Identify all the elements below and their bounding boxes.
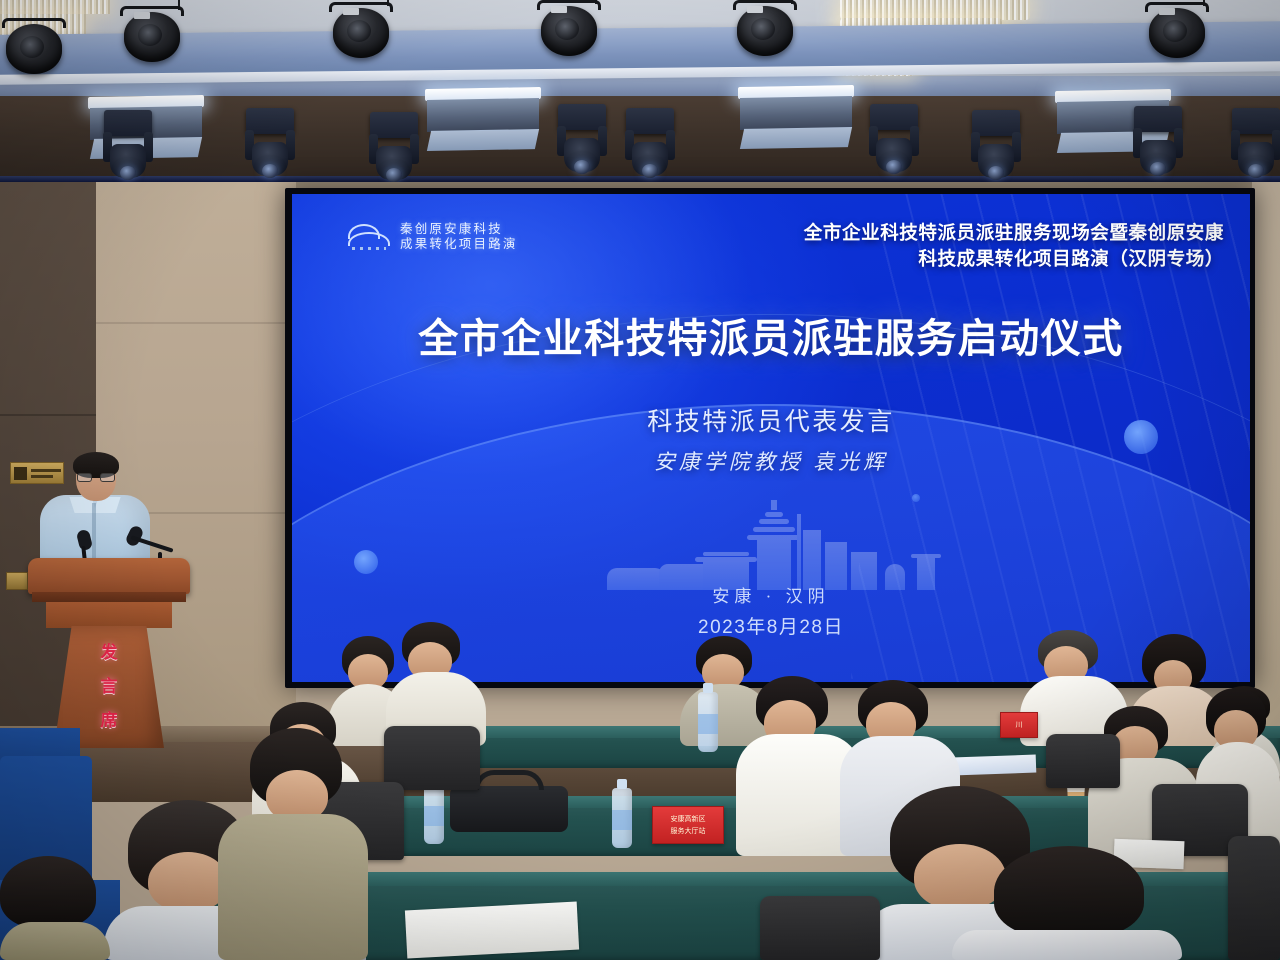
open-document	[952, 755, 1037, 776]
podium-label-char: 发	[28, 636, 190, 670]
screen-main-title: 全市企业科技特派员派驻服务启动仪式	[292, 306, 1250, 364]
wall-plate-sign-lower	[6, 572, 28, 590]
screen-logo-line1: 秦创原安康科技	[400, 222, 518, 237]
screen-header: 全市企业科技特派员派驻服务现场会暨秦创原安康 科技成果转化项目路演（汉阴专场）	[724, 220, 1224, 272]
moving-head-light-icon	[100, 110, 156, 184]
moving-head-light-icon	[366, 112, 422, 186]
par-can-icon	[0, 18, 68, 80]
moving-head-light-icon	[242, 108, 298, 182]
name-card-line2: 服务大厅站	[653, 827, 723, 836]
water-bottle	[424, 784, 444, 844]
moving-head-light-icon	[866, 104, 922, 178]
glasses-icon	[77, 473, 115, 482]
par-can-icon	[118, 6, 186, 68]
par-can-icon	[1143, 2, 1211, 64]
led-panel-light-icon	[738, 85, 854, 157]
name-card-text: 川	[1001, 721, 1037, 730]
led-panel-light-icon	[425, 87, 541, 159]
audience-person-front	[0, 856, 110, 960]
screen-logo-line2: 成果转化项目路演	[400, 237, 518, 252]
screen-speaker-name: 安康学院教授 袁光辉	[292, 446, 1250, 476]
screen-logo: 秦创原安康科技 成果转化项目路演	[348, 222, 518, 252]
screen-logo-text: 秦创原安康科技 成果转化项目路演	[400, 222, 518, 252]
moving-head-light-icon	[554, 104, 610, 178]
name-card: 安康高新区 服务大厅站	[652, 806, 724, 844]
screen-place: 安康 · 汉阴	[292, 582, 1250, 607]
name-card-line1: 安康高新区	[653, 815, 723, 824]
screen-header-line2: 科技成果转化项目路演（汉阴专场）	[724, 246, 1224, 272]
water-bottle	[698, 692, 718, 752]
audience-person-front	[218, 728, 368, 960]
screen-header-line1: 全市企业科技特派员派驻服务现场会暨秦创原安康	[724, 220, 1224, 246]
screen-subtitle: 科技特派员代表发言	[292, 402, 1250, 438]
qinchuangyuan-arch-logo-icon	[348, 222, 390, 252]
right-wall	[1252, 182, 1280, 742]
handbag	[450, 786, 568, 832]
moving-head-light-icon	[968, 110, 1024, 184]
par-can-icon	[327, 2, 395, 64]
chair	[1228, 836, 1280, 960]
papers-stack	[405, 902, 579, 959]
screen-decor-circle	[354, 550, 378, 574]
moving-head-light-icon	[1228, 108, 1280, 182]
water-bottle	[612, 788, 632, 848]
chair	[760, 896, 880, 960]
par-can-icon	[535, 0, 603, 62]
conference-hall-photo: 秦创原安康科技 成果转化项目路演 全市企业科技特派员派驻服务现场会暨秦创原安康 …	[0, 0, 1280, 960]
speaker-person	[40, 455, 150, 575]
led-screen: 秦创原安康科技 成果转化项目路演 全市企业科技特派员派驻服务现场会暨秦创原安康 …	[292, 194, 1250, 682]
moving-head-light-icon	[1130, 106, 1186, 180]
name-card: 川	[1000, 712, 1038, 738]
moving-head-light-icon	[622, 108, 678, 182]
podium-label-char: 言	[28, 670, 190, 704]
city-skyline-graphic	[607, 498, 967, 590]
podium-label: 发 言 席	[28, 636, 190, 738]
chair	[384, 726, 480, 790]
audience-person-front	[952, 846, 1182, 960]
par-can-icon	[731, 0, 799, 62]
chair	[1046, 734, 1120, 788]
